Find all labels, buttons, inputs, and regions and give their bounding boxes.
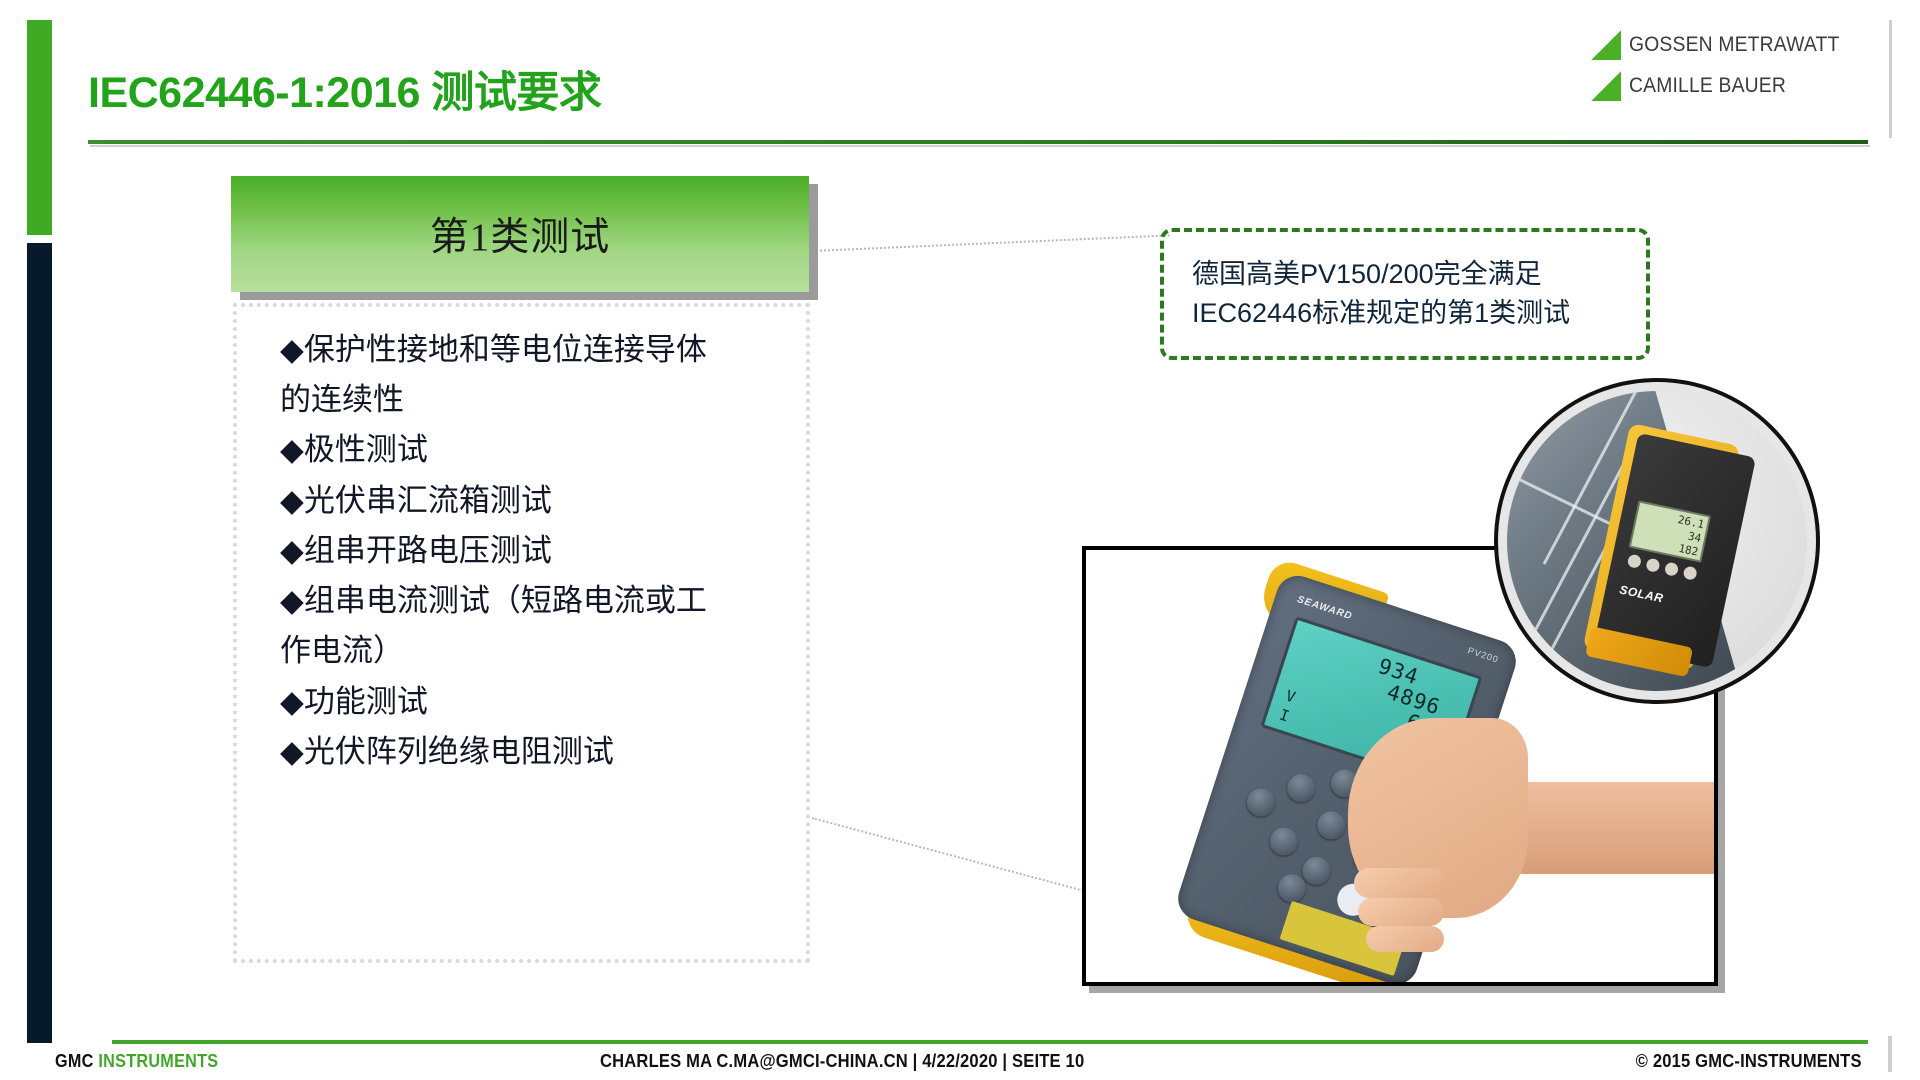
brand-row-camille: CAMILLE BAUER: [1591, 71, 1858, 101]
list-item: 作电流）: [280, 626, 780, 676]
footer-edge-mark: [1888, 1036, 1892, 1072]
keypad-button[interactable]: [1664, 561, 1679, 576]
bullet-list: ◆保护性接地和等电位连接导体 的连续性 ◆极性测试 ◆光伏串汇流箱测试 ◆组串开…: [280, 325, 780, 777]
left-accent-bar-green: [27, 20, 52, 235]
keypad-button[interactable]: [1645, 558, 1660, 573]
device-photo-inset: 26.1 34 182 SOLAR: [1498, 382, 1816, 700]
footer-logo-gmc: GMC: [55, 1051, 98, 1071]
callout-line-2: IEC62446标准规定的第1类测试: [1192, 294, 1646, 333]
footer-copyright: © 2015 GMC-INSTRUMENTS: [1636, 1051, 1862, 1072]
triangle-icon: [1591, 71, 1621, 101]
lcd-label-voltage: V: [1283, 687, 1297, 707]
page-title: IEC62446-1:2016 测试要求: [88, 58, 601, 120]
leader-line-bottom: [812, 817, 1102, 897]
brand-row-gossen: GOSSEN METRAWATT: [1591, 30, 1858, 60]
title-rule: [88, 140, 1868, 144]
list-item: ◆光伏阵列绝缘电阻测试: [280, 727, 780, 777]
footer-logo-instruments: INSTRUMENTS: [98, 1051, 218, 1071]
section-heading-bar: 第1类测试: [231, 176, 809, 292]
left-accent-bar-dark: [27, 243, 52, 1043]
list-item: ◆保护性接地和等电位连接导体: [280, 325, 780, 375]
finger-shape: [1358, 898, 1444, 926]
footer-meta: CHARLES MA C.MA@GMCI-CHINA.CN | 4/22/202…: [600, 1051, 1084, 1072]
lcd-label-current: I: [1277, 706, 1291, 726]
list-item: ◆组串电流测试（短路电流或工: [280, 576, 780, 626]
list-item: ◆光伏串汇流箱测试: [280, 476, 780, 526]
slide-canvas: IEC62446-1:2016 测试要求 GOSSEN METRAWATT CA…: [0, 0, 1920, 1080]
list-item: ◆功能测试: [280, 677, 780, 727]
section-heading-label: 第1类测试: [430, 206, 611, 262]
finger-shape: [1366, 926, 1444, 952]
leader-line-top: [812, 234, 1170, 252]
title-rule-shadow: [90, 145, 1870, 147]
callout-box: 德国高美PV150/200完全满足 IEC62446标准规定的第1类测试: [1160, 228, 1650, 360]
finger-shape: [1354, 868, 1446, 898]
brand-name-gossen: GOSSEN METRAWATT: [1629, 33, 1839, 57]
keypad-button[interactable]: [1682, 565, 1697, 580]
footer-rule: [112, 1040, 1868, 1044]
list-item: ◆极性测试: [280, 425, 780, 475]
list-item: ◆组串开路电压测试: [280, 526, 780, 576]
keypad-button[interactable]: [1627, 554, 1642, 569]
right-edge-rule: [1889, 20, 1892, 138]
brand-name-camille: CAMILLE BAUER: [1629, 74, 1786, 98]
list-item: 的连续性: [280, 375, 780, 425]
footer-logo: GMC INSTRUMENTS: [55, 1051, 218, 1072]
brand-logo: GOSSEN METRAWATT CAMILLE BAUER: [1591, 30, 1858, 101]
triangle-icon: [1591, 30, 1621, 60]
callout-line-1: 德国高美PV150/200完全满足: [1192, 255, 1646, 294]
